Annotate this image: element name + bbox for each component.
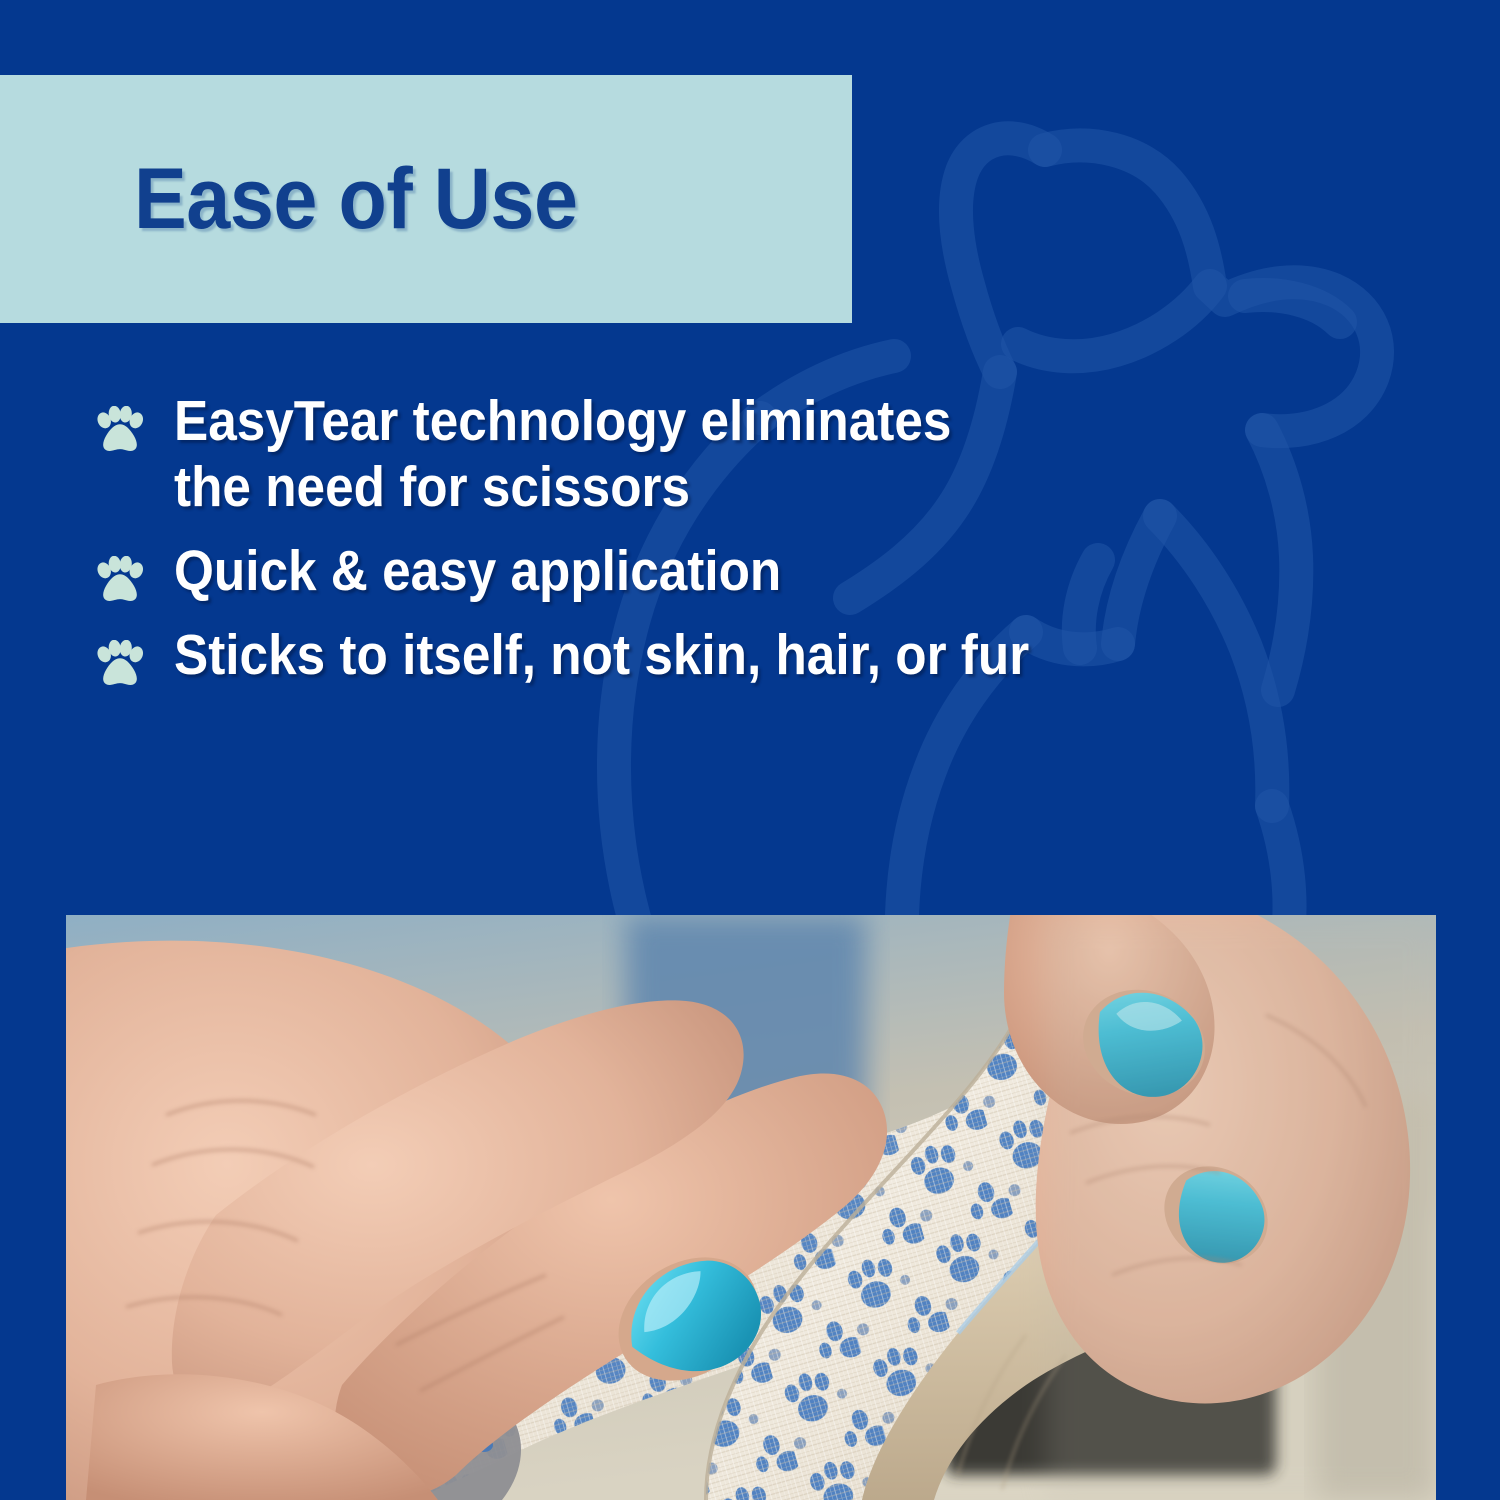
product-photo-illustration bbox=[66, 915, 1436, 1500]
list-item-label: Quick & easy application bbox=[174, 538, 781, 604]
product-feature-card: Ease of Use EasyTear technology eliminat… bbox=[0, 0, 1500, 1500]
page-title: Ease of Use bbox=[134, 156, 578, 242]
product-photo bbox=[66, 915, 1436, 1500]
header-banner: Ease of Use bbox=[0, 75, 852, 323]
list-item: EasyTear technology eliminates the need … bbox=[96, 388, 1436, 520]
paw-print-icon bbox=[96, 406, 144, 452]
list-item-label: EasyTear technology eliminates the need … bbox=[174, 388, 951, 520]
paw-print-icon bbox=[96, 640, 144, 686]
feature-bullet-list: EasyTear technology eliminates the need … bbox=[96, 388, 1436, 706]
list-item: Sticks to itself, not skin, hair, or fur bbox=[96, 622, 1436, 688]
paw-print-icon bbox=[96, 556, 144, 602]
list-item-label: Sticks to itself, not skin, hair, or fur bbox=[174, 622, 1029, 688]
list-item: Quick & easy application bbox=[96, 538, 1436, 604]
